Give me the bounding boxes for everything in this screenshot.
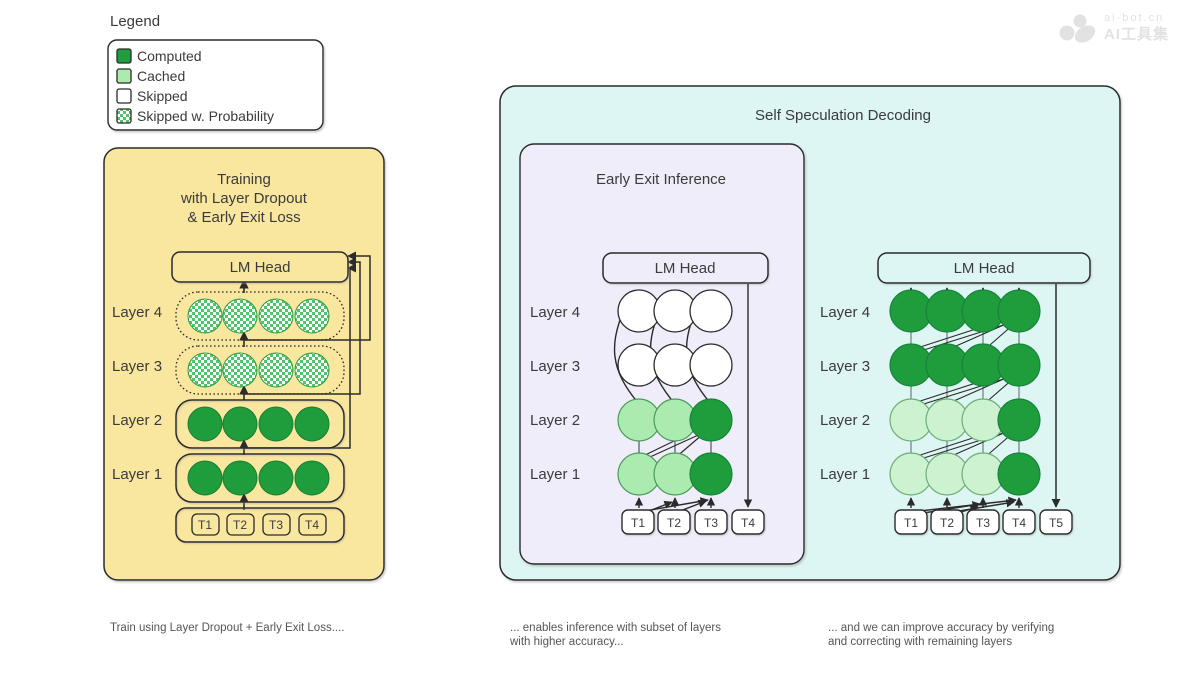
legend-label-skipped-probability: Skipped w. Probability (137, 108, 274, 124)
training-layer-1-node (259, 461, 293, 495)
training-layer-1-node (223, 461, 257, 495)
verification-layer-3-label: Layer 3 (820, 358, 870, 375)
training-title-line-1: Training (217, 171, 271, 188)
verification-token[interactable]: T1 (895, 510, 927, 534)
training-layer-4-node (223, 299, 257, 333)
watermark-logo-icon (1060, 15, 1099, 47)
verification-token-label: T4 (1012, 516, 1026, 530)
training-token-label: T2 (233, 518, 247, 532)
early-exit-token[interactable]: T4 (732, 510, 764, 534)
training-panel: Training with Layer Dropout & Early Exit… (104, 148, 384, 580)
training-layer-3-node (188, 353, 222, 387)
captions: Train using Layer Dropout + Early Exit L… (110, 622, 1054, 648)
training-layer-3-node (259, 353, 293, 387)
verification-token[interactable]: T3 (967, 510, 999, 534)
early-exit-layer-3-node (690, 344, 732, 386)
watermark-line-2: AI工具集 (1104, 25, 1169, 43)
training-lm-head-label: LM Head (230, 259, 291, 276)
training-layer-3-node (295, 353, 329, 387)
verification-layer-4-label: Layer 4 (820, 304, 870, 321)
early-exit-token[interactable]: T1 (622, 510, 654, 534)
legend-swatch-cached (117, 69, 131, 83)
verification-caption-line-2: and correcting with remaining layers (828, 636, 1012, 648)
legend-label-computed: Computed (137, 48, 202, 64)
training-layer-2-node (259, 407, 293, 441)
early-exit-lm-head[interactable]: LM Head (603, 253, 768, 283)
verification-lm-head[interactable]: LM Head (878, 253, 1090, 283)
legend-label-skipped: Skipped (137, 88, 188, 104)
legend-swatch-skipped-probability (117, 109, 131, 123)
early-exit-lm-head-label: LM Head (655, 260, 716, 277)
training-layer-4-node (188, 299, 222, 333)
early-exit-caption-line-1: ... enables inference with subset of lay… (510, 622, 721, 634)
legend: Legend Computed Cached Skipped Skipped w… (108, 13, 323, 130)
early-exit-token-label: T1 (631, 516, 645, 530)
verification-token[interactable]: T5 (1040, 510, 1072, 534)
training-token-label: T4 (305, 518, 319, 532)
early-exit-token-label: T3 (704, 516, 718, 530)
early-exit-layer-2-node (690, 399, 732, 441)
legend-title: Legend (110, 13, 160, 30)
early-exit-panel: Early Exit Inference LM Head (520, 144, 804, 564)
verification-caption-line-1: ... and we can improve accuracy by verif… (828, 622, 1054, 634)
verification-token[interactable]: T2 (931, 510, 963, 534)
early-exit-layer-1-node (690, 453, 732, 495)
training-layer-3-label: Layer 3 (112, 358, 162, 375)
watermark-line-1: ai-bot.cn (1104, 12, 1164, 24)
verification-layer-2-node (998, 399, 1040, 441)
verification-layer-1-node (998, 453, 1040, 495)
training-token-label: T1 (198, 518, 212, 532)
verification-layer-4-node (998, 290, 1040, 332)
training-layer-2-node (295, 407, 329, 441)
verification-layer-3-node (998, 344, 1040, 386)
verification-token[interactable]: T4 (1003, 510, 1035, 534)
early-exit-layer-4-node (690, 290, 732, 332)
watermark: ai-bot.cn AI工具集 (1060, 12, 1170, 46)
early-exit-title: Early Exit Inference (596, 171, 726, 188)
early-exit-token[interactable]: T2 (658, 510, 690, 534)
verification-token-label: T1 (904, 516, 918, 530)
early-exit-layer-3-label: Layer 3 (530, 358, 580, 375)
training-layer-1-node (295, 461, 329, 495)
early-exit-token-label: T4 (741, 516, 755, 530)
diagram-canvas: Legend Computed Cached Skipped Skipped w… (0, 0, 1200, 675)
training-layer-2-node (223, 407, 257, 441)
training-layer-2-label: Layer 2 (112, 412, 162, 429)
training-layer-1-node (188, 461, 222, 495)
training-token-label: T3 (269, 518, 283, 532)
self-speculation-panel: Self Speculation Decoding Early Exit Inf… (500, 86, 1120, 580)
legend-swatch-computed (117, 49, 131, 63)
verification-token-label: T5 (1049, 516, 1063, 530)
early-exit-layer-2-label: Layer 2 (530, 412, 580, 429)
training-title-line-3: & Early Exit Loss (187, 209, 300, 226)
training-layer-2-node (188, 407, 222, 441)
training-layer-4-label: Layer 4 (112, 304, 162, 321)
early-exit-layer-4-label: Layer 4 (530, 304, 580, 321)
training-layer-4-node (295, 299, 329, 333)
verification-layer-2-label: Layer 2 (820, 412, 870, 429)
verification-layer-1-label: Layer 1 (820, 466, 870, 483)
training-layer-3-node (223, 353, 257, 387)
legend-label-cached: Cached (137, 68, 185, 84)
early-exit-layer-1-label: Layer 1 (530, 466, 580, 483)
early-exit-token-label: T2 (667, 516, 681, 530)
training-caption-line-1: Train using Layer Dropout + Early Exit L… (110, 622, 344, 634)
training-title-line-2: with Layer Dropout (180, 190, 308, 207)
training-lm-head[interactable]: LM Head (172, 252, 348, 282)
verification-lm-head-label: LM Head (954, 260, 1015, 277)
training-layer-1-label: Layer 1 (112, 466, 162, 483)
self-speculation-title: Self Speculation Decoding (755, 107, 931, 124)
early-exit-caption-line-2: with higher accuracy... (509, 636, 624, 648)
early-exit-token[interactable]: T3 (695, 510, 727, 534)
training-layer-4-node (259, 299, 293, 333)
verification-token-label: T2 (940, 516, 954, 530)
legend-swatch-skipped (117, 89, 131, 103)
verification-token-label: T3 (976, 516, 990, 530)
